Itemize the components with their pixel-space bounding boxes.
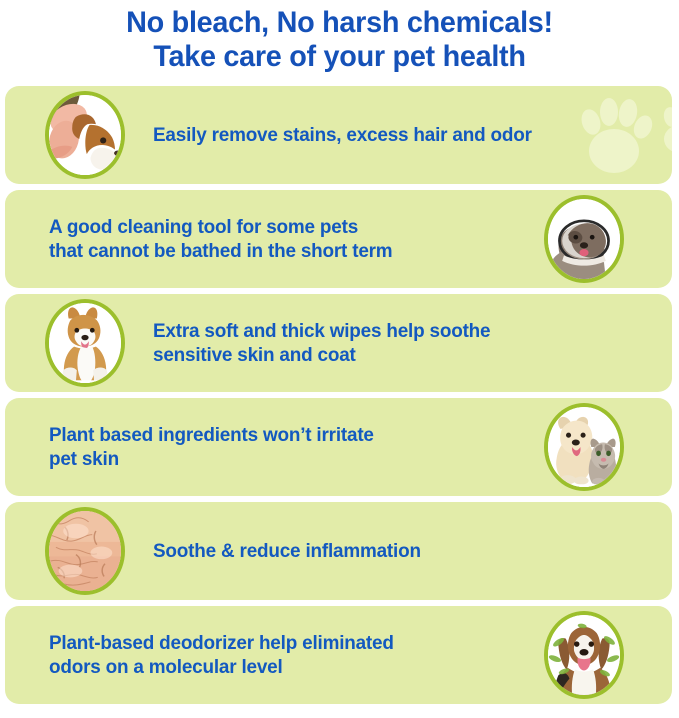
feature-text: Easily remove stains, excess hair and od… <box>153 123 647 147</box>
feature-text: Plant based ingredients won’t irritate p… <box>49 423 519 471</box>
feature-text: Soothe & reduce inflammation <box>153 539 647 563</box>
dog-ear-cleaning-photo <box>45 91 125 179</box>
pet-wipes-feature-infographic: No bleach, No harsh chemicals! Take care… <box>0 0 679 718</box>
page-title-line-2: Take care of your pet health <box>14 40 666 74</box>
corgi-dog-photo <box>45 299 125 387</box>
dog-cone-collar-photo <box>544 195 624 283</box>
puppy-and-kitten-photo <box>544 403 624 491</box>
feature-row: Easily remove stains, excess hair and od… <box>5 86 672 184</box>
page-title-line-1: No bleach, No harsh chemicals! <box>14 6 666 40</box>
feature-text: Extra soft and thick wipes help soothe s… <box>153 319 647 367</box>
feature-text: A good cleaning tool for some pets that … <box>49 215 519 263</box>
feature-row: Soothe & reduce inflammation <box>5 502 672 600</box>
feature-row: A good cleaning tool for some pets that … <box>5 190 672 288</box>
page-title: No bleach, No harsh chemicals! Take care… <box>14 0 666 74</box>
irritated-pet-skin-photo <box>45 507 125 595</box>
feature-list: Easily remove stains, excess hair and od… <box>0 86 679 710</box>
beagle-with-leaves-photo <box>544 611 624 699</box>
feature-row: Plant-based deodorizer help eliminated o… <box>5 606 672 704</box>
feature-row: Plant based ingredients won’t irritate p… <box>5 398 672 496</box>
feature-row: Extra soft and thick wipes help soothe s… <box>5 294 672 392</box>
feature-text: Plant-based deodorizer help eliminated o… <box>49 631 519 679</box>
